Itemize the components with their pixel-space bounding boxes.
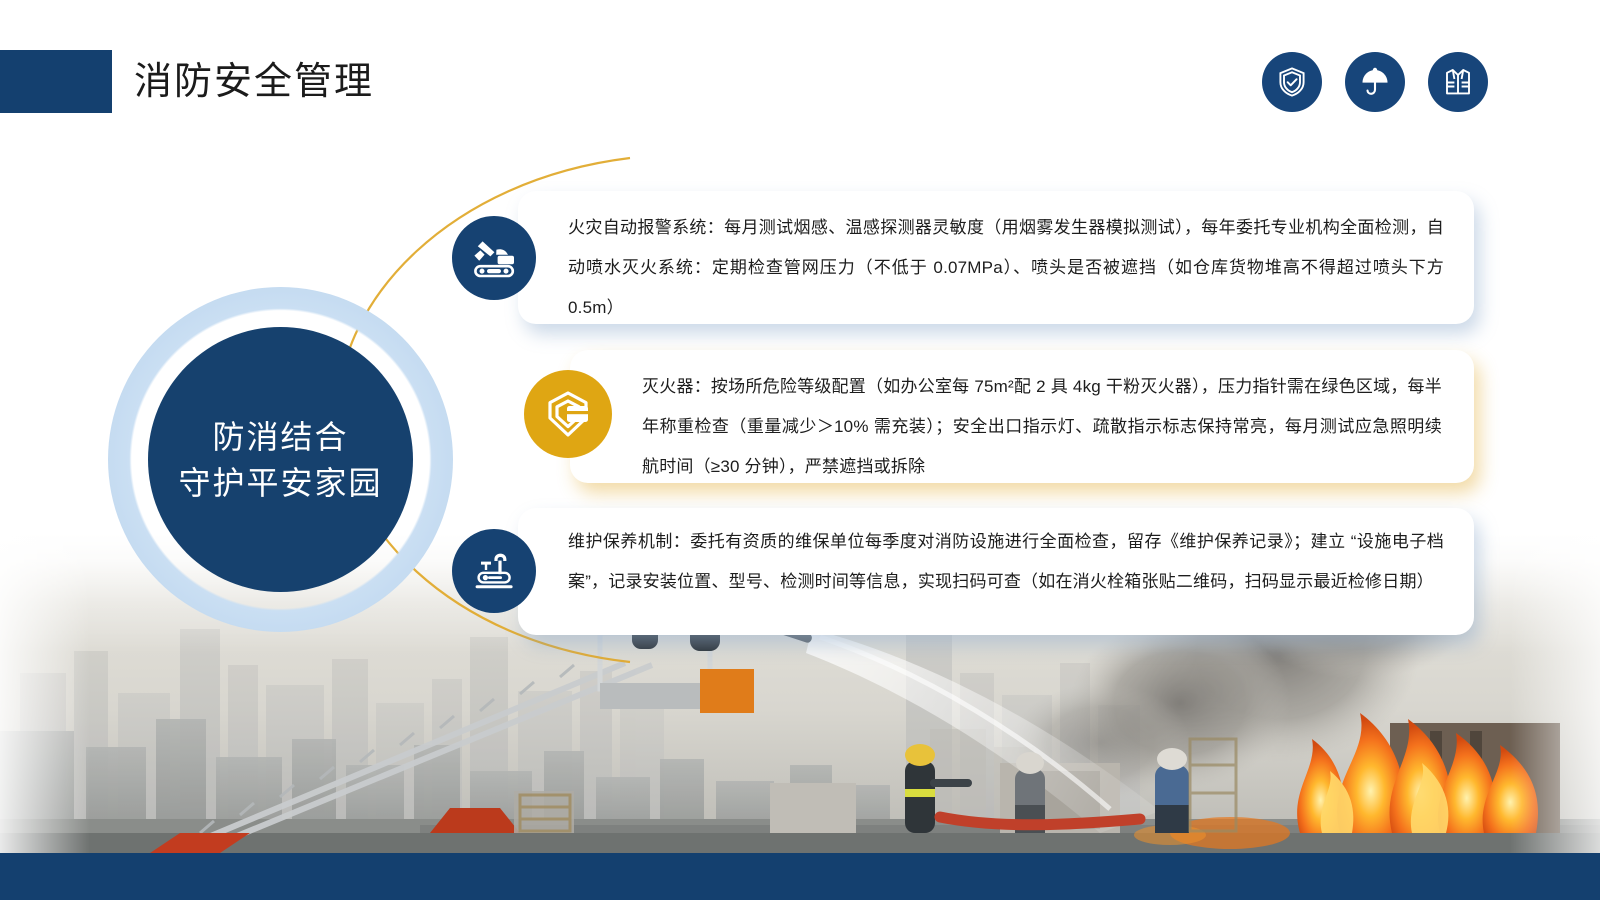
shield-card-icon[interactable] (524, 370, 612, 458)
shield-check-icon[interactable] (1262, 52, 1322, 112)
slogan-line-1: 防消结合 (212, 414, 348, 460)
content-card-3[interactable]: 维护保养机制：委托有资质的维保单位每季度对消防设施进行全面检查，留存《维护保养记… (518, 508, 1474, 635)
machinery-icon[interactable] (452, 529, 536, 613)
excavator-glyph (469, 235, 519, 281)
shield-card-glyph (542, 388, 594, 440)
content-card-2[interactable]: 灭火器：按场所危险等级配置（如办公室每 75m²配 2 具 4kg 干粉灭火器）… (570, 350, 1474, 483)
header-accent-block (0, 50, 112, 113)
machinery-glyph (469, 548, 519, 594)
umbrella-icon[interactable] (1345, 52, 1405, 112)
content-card-3-text: 维护保养机制：委托有资质的维保单位每季度对消防设施进行全面检查，留存《维护保养记… (568, 522, 1444, 602)
content-card-1[interactable]: 火灾自动报警系统：每月测试烟感、温感探测器灵敏度（用烟雾发生器模拟测试），每年委… (518, 191, 1474, 324)
slogan-line-2: 守护平安家园 (178, 460, 382, 506)
center-slogan-circle: 防消结合 守护平安家园 (148, 327, 413, 592)
page-title: 消防安全管理 (134, 56, 374, 108)
content-card-2-text: 灭火器：按场所危险等级配置（如办公室每 75m²配 2 具 4kg 干粉灭火器）… (642, 367, 1442, 487)
excavator-icon[interactable] (452, 216, 536, 300)
header-icon-group (1262, 52, 1488, 112)
safety-vest-icon[interactable] (1428, 52, 1488, 112)
content-card-1-text: 火灾自动报警系统：每月测试烟感、温感探测器灵敏度（用烟雾发生器模拟测试），每年委… (568, 208, 1444, 328)
footer-bar (0, 853, 1600, 900)
slide-root: 消防安全管理 (0, 0, 1600, 900)
